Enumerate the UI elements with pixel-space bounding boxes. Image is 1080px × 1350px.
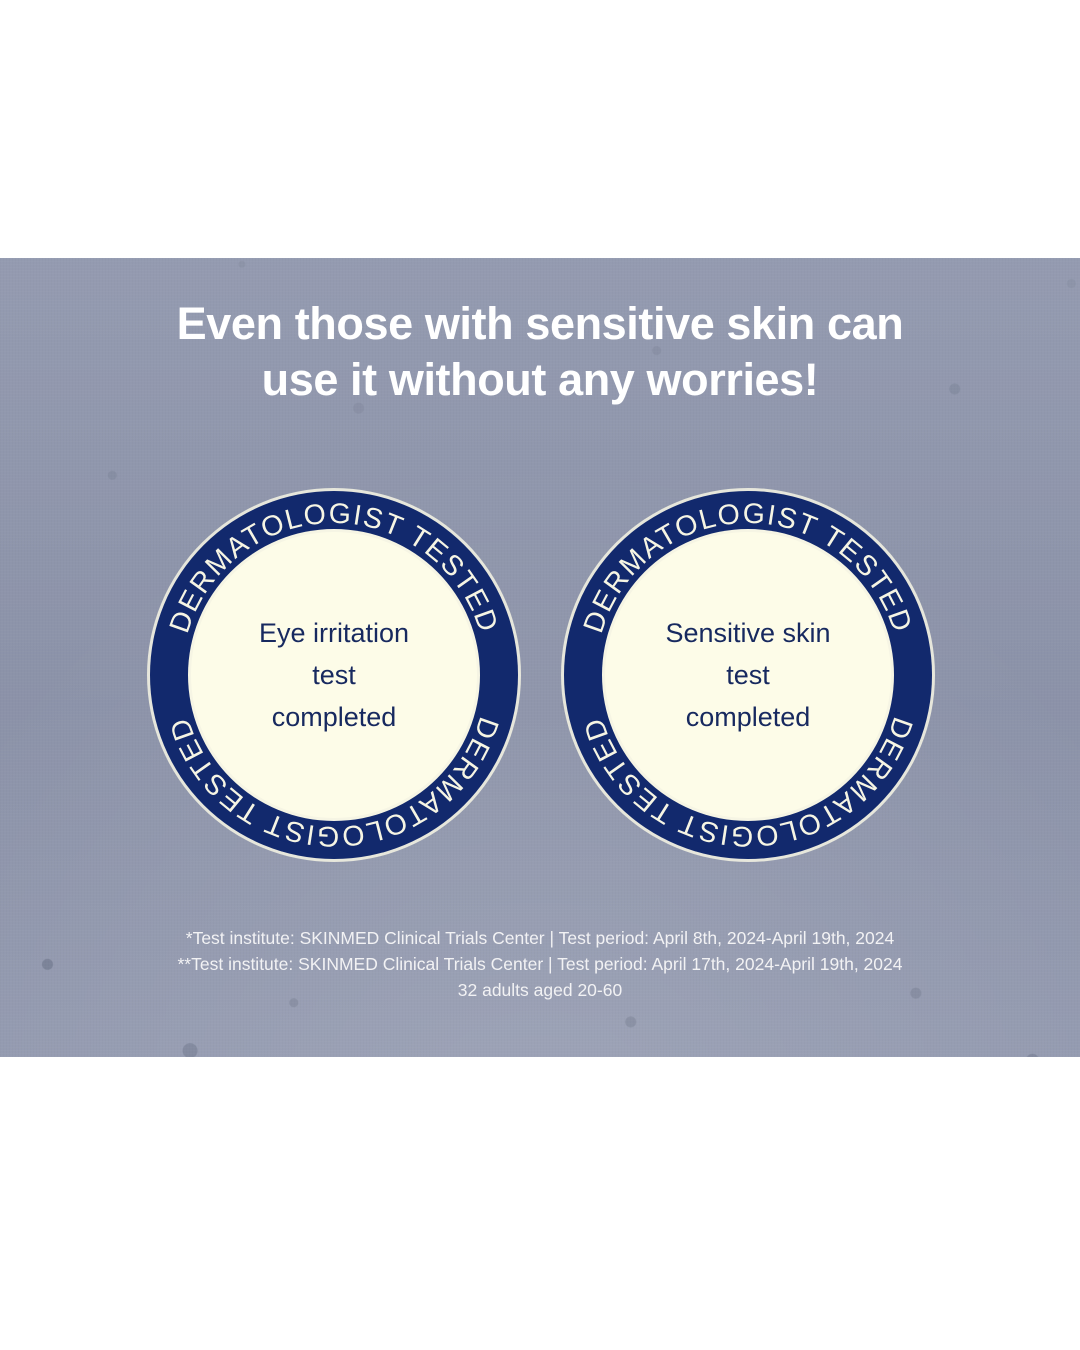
footnote-line-2: **Test institute: SKINMED Clinical Trial…	[0, 951, 1080, 977]
badge-inner-circle	[605, 532, 891, 818]
footnote-line-3: 32 adults aged 20-60	[0, 977, 1080, 1003]
badge-inner-circle	[191, 532, 477, 818]
badge-group: DERMATOLOGIST TESTED DERMATOLOGIST TESTE…	[0, 487, 1080, 863]
page-title: Even those with sensitive skin can use i…	[0, 296, 1080, 408]
headline-line-1: Even those with sensitive skin can	[0, 296, 1080, 352]
footnote-line-1: *Test institute: SKINMED Clinical Trials…	[0, 925, 1080, 951]
badge-eye-irritation: DERMATOLOGIST TESTED DERMATOLOGIST TESTE…	[146, 487, 522, 863]
badge-sensitive-skin: DERMATOLOGIST TESTED DERMATOLOGIST TESTE…	[560, 487, 936, 863]
footnote-block: *Test institute: SKINMED Clinical Trials…	[0, 925, 1080, 1003]
headline-line-2: use it without any worries!	[0, 352, 1080, 408]
